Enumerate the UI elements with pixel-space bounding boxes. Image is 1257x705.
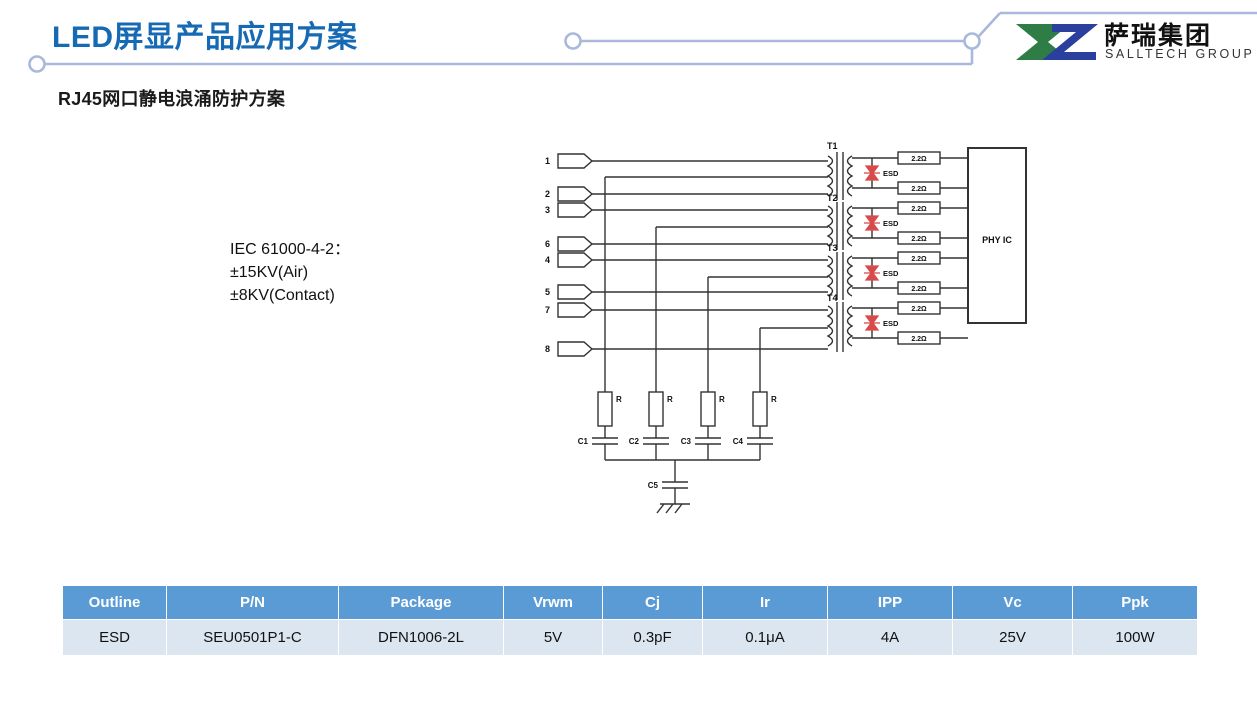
table-header-cell: P/N [167,586,339,620]
table-cell-ir: 0.1μA [703,620,828,656]
pin-label: 1 [545,156,550,166]
transformer-label: T4 [827,293,838,303]
table-cell-outline: ESD [63,620,167,656]
transformer-label: T1 [827,141,838,151]
esd-spec-note: IEC 61000-4-2： ±15KV(Air) ±8KV(Contact) [230,238,350,307]
spec-note-line-2: ±15KV(Air) [230,261,350,284]
pin-label: 5 [545,287,550,297]
phy-ic-label: PHY IC [982,235,1012,245]
resistor-value: 2.2Ω [911,156,927,163]
section-subtitle: RJ45网口静电浪涌防护方案 [58,85,285,111]
termination-network: R R R R [578,392,777,513]
esd-symbols [864,166,880,330]
pin-label: 3 [545,205,550,215]
resistor-value: 2.2Ω [911,186,927,193]
spec-note-line-3: ±8KV(Contact) [230,284,350,307]
table-cell-vc: 25V [953,620,1073,656]
table-cell-cj: 0.3pF [603,620,703,656]
decoration-node-mid [566,34,581,49]
resistor-value: 2.2Ω [911,306,927,313]
table-header-row: Outline P/N Package Vrwm Cj Ir IPP Vc Pp… [63,586,1198,620]
table-header-cell: Outline [63,586,167,620]
spec-note-line-1: IEC 61000-4-2： [230,238,350,261]
capacitor-ref: C4 [733,437,744,446]
esd-label: ESD [883,319,899,328]
pin-label: 2 [545,189,550,199]
table-header-cell: Vc [953,586,1073,620]
table-header-cell: Vrwm [504,586,603,620]
resistor-value: 2.2Ω [911,336,927,343]
brand-logo: 萨瑞集团 SALLTECH GROUP [1012,18,1250,68]
decoration-node-right [965,34,980,49]
table-row: ESD SEU0501P1-C DFN1006-2L 5V 0.3pF 0.1μ… [63,620,1198,656]
logo-english-name: SALLTECH GROUP [1105,47,1254,61]
transformer-label: T2 [827,193,838,203]
spec-table: Outline P/N Package Vrwm Cj Ir IPP Vc Pp… [62,585,1198,656]
table-header-cell: Package [339,586,504,620]
table-cell-ipp: 4A [828,620,953,656]
resistor-ref: R [616,395,622,404]
pin-label: 8 [545,344,550,354]
series-resistors: 2.2Ω 2.2Ω 2.2Ω 2.2Ω 2.2Ω 2.2Ω 2.2Ω 2.2Ω [898,152,940,344]
resistor-ref: R [719,395,725,404]
table-cell-vrwm: 5V [504,620,603,656]
table-cell-ppk: 100W [1073,620,1198,656]
rj45-protection-schematic: 1 2 3 6 4 5 7 8 T1 T2 T3 T4 [520,130,1040,540]
resistor-value: 2.2Ω [911,286,927,293]
capacitor-ref: C5 [648,481,659,490]
resistor-value: 2.2Ω [911,206,927,213]
resistor-value: 2.2Ω [911,256,927,263]
page-title: LED屏显产品应用方案 [52,12,358,56]
table-header-cell: Cj [603,586,703,620]
esd-label: ESD [883,269,899,278]
esd-label: ESD [883,219,899,228]
table-header-cell: IPP [828,586,953,620]
table-header-cell: Ppk [1073,586,1198,620]
resistor-value: 2.2Ω [911,236,927,243]
decoration-node-left [30,57,45,72]
pin-label: 7 [545,305,550,315]
transformer-label: T3 [827,243,838,253]
capacitor-ref: C1 [578,437,589,446]
capacitor-ref: C3 [681,437,692,446]
capacitor-ref: C2 [629,437,640,446]
salltech-logo-mark [1012,18,1100,66]
pin-label: 4 [545,255,550,265]
pin-label: 6 [545,239,550,249]
esd-label: ESD [883,169,899,178]
resistor-ref: R [667,395,673,404]
table-header-cell: Ir [703,586,828,620]
table-cell-package: DFN1006-2L [339,620,504,656]
resistor-ref: R [771,395,777,404]
table-cell-pn: SEU0501P1-C [167,620,339,656]
